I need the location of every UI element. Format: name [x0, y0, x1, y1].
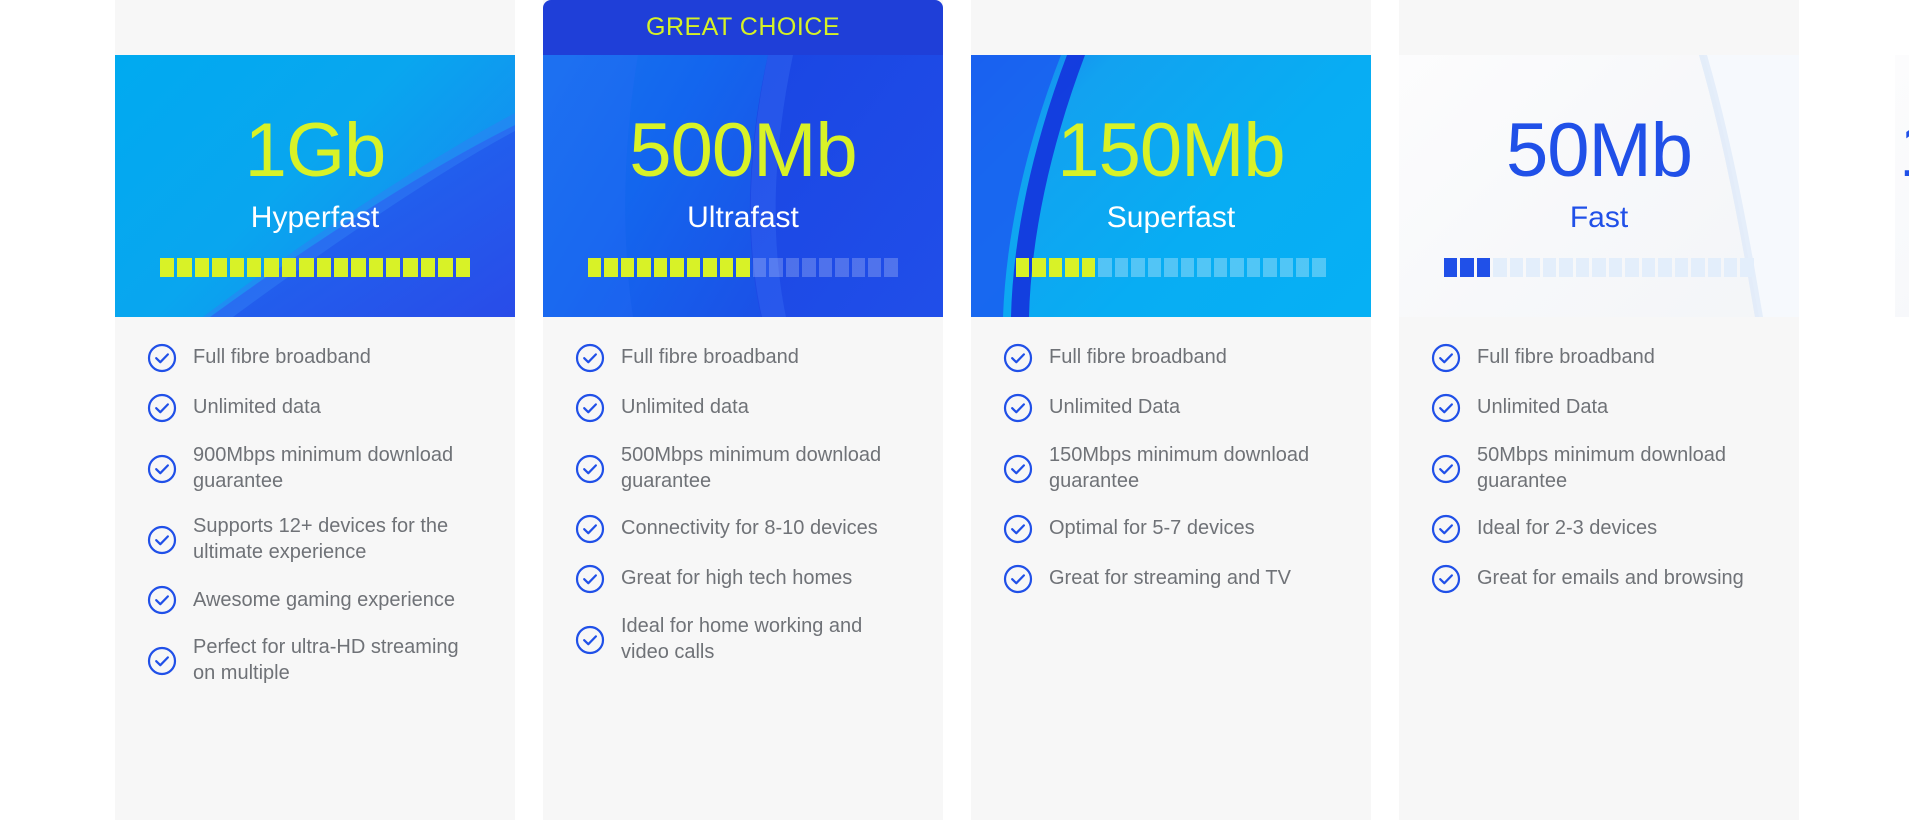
feature-label: 500Mbps minimum download guarantee — [621, 443, 913, 494]
feature-label: Unlimited Data — [1049, 395, 1180, 421]
check-circle-icon — [1431, 454, 1461, 484]
meter-segment-filled — [230, 258, 244, 277]
feature-item: Full fibre broadband — [1399, 343, 1799, 373]
meter-segment-empty — [1312, 258, 1325, 277]
speed-meter-3 — [1016, 258, 1326, 277]
speed-meter-1 — [160, 258, 470, 277]
feature-item: 500Mbps minimum download guarantee — [543, 443, 943, 494]
meter-segment-filled — [703, 258, 716, 277]
feature-item: Awesome gaming experience — [115, 585, 515, 615]
feature-label: Unlimited Data — [1477, 395, 1608, 421]
check-circle-icon — [147, 585, 177, 615]
feature-label: Great for emails and browsing — [1477, 566, 1744, 592]
feature-label: Awesome gaming experience — [193, 588, 455, 614]
pricing-plans-page: 1Gb Hyperfast Full fibre broadbandUnlimi… — [0, 0, 1909, 820]
plan-header-content-3: 150Mb Superfast — [971, 55, 1371, 317]
feature-label: Perfect for ultra-HD streaming on multip… — [193, 635, 485, 686]
plan-header-150mb: 150Mb Superfast — [971, 55, 1371, 317]
plan-speed-2: 500Mb — [629, 113, 856, 189]
feature-label: Ideal for 2-3 devices — [1477, 516, 1657, 542]
plan-header-content-2: 500Mb Ultrafast — [543, 55, 943, 317]
banner-placeholder-3 — [971, 0, 1371, 55]
plan-header-content-1: 1Gb Hyperfast — [115, 55, 515, 317]
meter-segment-empty — [819, 258, 832, 277]
meter-segment-empty — [1708, 258, 1721, 277]
check-circle-icon — [575, 514, 605, 544]
plan-card-slot-2: GREAT CHOICE — [543, 0, 943, 820]
meter-segment-filled — [334, 258, 348, 277]
meter-segment-filled — [212, 258, 226, 277]
meter-segment-empty — [1625, 258, 1638, 277]
meter-segment-filled — [177, 258, 191, 277]
meter-segment-filled — [1049, 258, 1062, 277]
meter-segment-empty — [1263, 258, 1276, 277]
check-circle-icon — [147, 525, 177, 555]
feature-label: Great for streaming and TV — [1049, 566, 1291, 592]
plan-features-4: Full fibre broadbandUnlimited Data50Mbps… — [1399, 317, 1799, 820]
meter-segment-empty — [1197, 258, 1210, 277]
meter-segment-empty — [1296, 258, 1309, 277]
feature-item: Perfect for ultra-HD streaming on multip… — [115, 635, 515, 686]
feature-label: Optimal for 5-7 devices — [1049, 516, 1255, 542]
check-circle-icon — [575, 454, 605, 484]
plan-speed-3: 150Mb — [1057, 113, 1284, 189]
meter-segment-empty — [753, 258, 766, 277]
feature-item: 150Mbps minimum download guarantee — [971, 443, 1371, 494]
check-circle-icon — [575, 625, 605, 655]
feature-item: Great for high tech homes — [543, 564, 943, 594]
meter-segment-filled — [299, 258, 313, 277]
feature-label: Great for high tech homes — [621, 566, 852, 592]
meter-segment-filled — [386, 258, 400, 277]
meter-segment-filled — [720, 258, 733, 277]
meter-segment-empty — [786, 258, 799, 277]
meter-segment-filled — [588, 258, 601, 277]
feature-item: Great for streaming and TV — [971, 564, 1371, 594]
meter-segment-empty — [1230, 258, 1243, 277]
feature-label: 50Mbps minimum download guarantee — [1477, 443, 1769, 494]
feature-label: Supports 12+ devices for the ultimate ex… — [193, 514, 485, 565]
check-circle-icon — [1003, 343, 1033, 373]
feature-item: Great for emails and browsing — [1399, 564, 1799, 594]
feature-item: Supports 12+ devices for the ultimate ex… — [115, 514, 515, 565]
meter-segment-filled — [247, 258, 261, 277]
feature-item: 50Mbps minimum download guarantee — [1399, 443, 1799, 494]
meter-segment-empty — [852, 258, 865, 277]
check-circle-icon — [575, 343, 605, 373]
check-circle-icon — [1003, 393, 1033, 423]
plan-tier-2: Ultrafast — [687, 201, 799, 235]
plan-tier-1: Hyperfast — [251, 201, 379, 235]
meter-segment-empty — [1115, 258, 1128, 277]
feature-item: 900Mbps minimum download guarantee — [115, 443, 515, 494]
meter-segment-filled — [317, 258, 331, 277]
meter-segment-filled — [670, 258, 683, 277]
feature-label: Full fibre broadband — [1477, 345, 1655, 371]
meter-segment-empty — [1543, 258, 1556, 277]
meter-segment-empty — [1724, 258, 1737, 277]
meter-segment-empty — [1740, 258, 1753, 277]
check-circle-icon — [575, 393, 605, 423]
meter-segment-filled — [621, 258, 634, 277]
meter-segment-empty — [835, 258, 848, 277]
check-circle-icon — [1003, 454, 1033, 484]
feature-label: Full fibre broadband — [1049, 345, 1227, 371]
meter-segment-filled — [687, 258, 700, 277]
banner-placeholder-4 — [1399, 0, 1799, 55]
meter-segment-empty — [1131, 258, 1144, 277]
check-circle-icon — [147, 646, 177, 676]
feature-item: Connectivity for 8-10 devices — [543, 514, 943, 544]
feature-label: Full fibre broadband — [621, 345, 799, 371]
meter-segment-empty — [1576, 258, 1589, 277]
speed-meter-4 — [1444, 258, 1754, 277]
meter-segment-empty — [1164, 258, 1177, 277]
meter-segment-filled — [637, 258, 650, 277]
meter-segment-empty — [802, 258, 815, 277]
check-circle-icon — [1431, 393, 1461, 423]
meter-segment-filled — [421, 258, 435, 277]
check-circle-icon — [1431, 514, 1461, 544]
meter-segment-empty — [1592, 258, 1605, 277]
meter-segment-empty — [1280, 258, 1293, 277]
meter-segment-filled — [1082, 258, 1095, 277]
meter-segment-empty — [769, 258, 782, 277]
banner-placeholder-1 — [115, 0, 515, 55]
feature-label: 150Mbps minimum download guarantee — [1049, 443, 1341, 494]
plan-card-50mb[interactable]: 50Mb Fast Full fibre broadbandUnlimited … — [1399, 0, 1799, 820]
meter-segment-empty — [1526, 258, 1539, 277]
plan-features-1: Full fibre broadbandUnlimited data900Mbp… — [115, 317, 515, 820]
meter-segment-filled — [1477, 258, 1490, 277]
feature-item: Ideal for 2-3 devices — [1399, 514, 1799, 544]
meter-segment-empty — [868, 258, 881, 277]
meter-segment-empty — [1510, 258, 1523, 277]
plan-speed-4: 50Mb — [1506, 113, 1692, 189]
meter-segment-empty — [1247, 258, 1260, 277]
feature-item: Ideal for home working and video calls — [543, 614, 943, 665]
plan-card-500mb[interactable]: GREAT CHOICE — [543, 0, 943, 820]
meter-segment-empty — [1181, 258, 1194, 277]
meter-segment-filled — [456, 258, 470, 277]
feature-label: Connectivity for 8-10 devices — [621, 516, 878, 542]
meter-segment-filled — [1460, 258, 1473, 277]
meter-segment-empty — [1098, 258, 1111, 277]
great-choice-label: GREAT CHOICE — [646, 13, 840, 42]
meter-segment-empty — [1493, 258, 1506, 277]
feature-item: Full fibre broadband — [543, 343, 943, 373]
meter-segment-empty — [1691, 258, 1704, 277]
meter-segment-filled — [1016, 258, 1029, 277]
plan-card-grid: 1Gb Hyperfast Full fibre broadbandUnlimi… — [0, 0, 1909, 820]
meter-segment-filled — [195, 258, 209, 277]
feature-label: Unlimited data — [621, 395, 749, 421]
meter-segment-empty — [1642, 258, 1655, 277]
feature-label: Ideal for home working and video calls — [621, 614, 913, 665]
plan-card-150mb[interactable]: 150Mb Superfast Full fibre broadbandUnli… — [971, 0, 1371, 820]
meter-segment-filled — [736, 258, 749, 277]
plan-header-500mb: 500Mb Ultrafast — [543, 55, 943, 317]
check-circle-icon — [1003, 564, 1033, 594]
check-circle-icon — [147, 343, 177, 373]
meter-segment-empty — [884, 258, 897, 277]
meter-segment-empty — [1609, 258, 1622, 277]
meter-segment-empty — [1214, 258, 1227, 277]
feature-item: Unlimited data — [115, 393, 515, 423]
meter-segment-filled — [1444, 258, 1457, 277]
meter-segment-empty — [1658, 258, 1671, 277]
plan-card-1gb[interactable]: 1Gb Hyperfast Full fibre broadbandUnlimi… — [115, 0, 515, 820]
check-circle-icon — [1431, 343, 1461, 373]
plan-header-content-4: 50Mb Fast — [1399, 55, 1799, 317]
meter-segment-filled — [369, 258, 383, 277]
meter-segment-filled — [438, 258, 452, 277]
meter-segment-filled — [282, 258, 296, 277]
check-circle-icon — [147, 454, 177, 484]
feature-label: Unlimited data — [193, 395, 321, 421]
speed-meter-2 — [588, 258, 898, 277]
feature-item: Full fibre broadband — [971, 343, 1371, 373]
meter-segment-filled — [1032, 258, 1045, 277]
plan-card-slot-1: 1Gb Hyperfast Full fibre broadbandUnlimi… — [115, 0, 515, 820]
check-circle-icon — [1431, 564, 1461, 594]
plan-tier-3: Superfast — [1107, 201, 1235, 235]
plan-features-2: Full fibre broadbandUnlimited data500Mbp… — [543, 317, 943, 820]
meter-segment-empty — [1675, 258, 1688, 277]
feature-item: Optimal for 5-7 devices — [971, 514, 1371, 544]
meter-segment-filled — [160, 258, 174, 277]
plan-speed-partial: 1 — [1899, 113, 1909, 189]
meter-segment-filled — [1065, 258, 1078, 277]
feature-item: Unlimited Data — [1399, 393, 1799, 423]
meter-segment-filled — [403, 258, 417, 277]
check-circle-icon — [147, 393, 177, 423]
plan-features-3: Full fibre broadbandUnlimited Data150Mbp… — [971, 317, 1371, 820]
meter-segment-filled — [351, 258, 365, 277]
meter-segment-filled — [264, 258, 278, 277]
meter-segment-empty — [1148, 258, 1161, 277]
plan-card-slot-4: 50Mb Fast Full fibre broadbandUnlimited … — [1399, 0, 1799, 820]
meter-segment-empty — [1559, 258, 1572, 277]
plan-card-slot-3: 150Mb Superfast Full fibre broadbandUnli… — [971, 0, 1371, 820]
plan-header-50mb: 50Mb Fast — [1399, 55, 1799, 317]
feature-label: 900Mbps minimum download guarantee — [193, 443, 485, 494]
meter-segment-filled — [654, 258, 667, 277]
meter-segment-filled — [604, 258, 617, 277]
feature-item: Unlimited data — [543, 393, 943, 423]
plan-tier-4: Fast — [1570, 201, 1628, 235]
check-circle-icon — [1003, 514, 1033, 544]
feature-item: Full fibre broadband — [115, 343, 515, 373]
plan-header-1gb: 1Gb Hyperfast — [115, 55, 515, 317]
check-circle-icon — [575, 564, 605, 594]
feature-item: Unlimited Data — [971, 393, 1371, 423]
plan-speed-1: 1Gb — [245, 113, 386, 189]
great-choice-banner: GREAT CHOICE — [543, 0, 943, 55]
feature-label: Full fibre broadband — [193, 345, 371, 371]
